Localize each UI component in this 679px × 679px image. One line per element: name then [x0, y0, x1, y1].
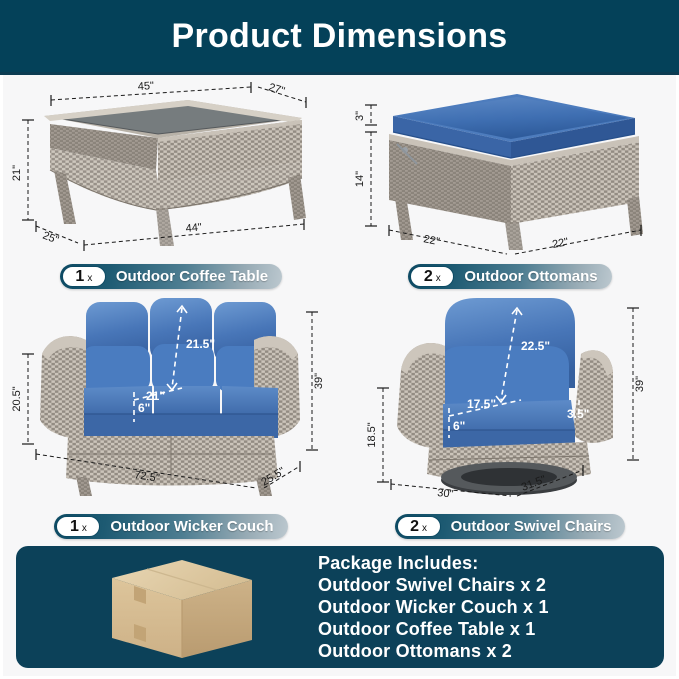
product-label-wicker-couch[interactable]: 1x Outdoor Wicker Couch: [54, 514, 287, 539]
header-banner: Product Dimensions: [0, 0, 679, 72]
dim-label-couch-20-5: 20.5": [11, 386, 23, 411]
product-name-wicker-couch: Outdoor Wicker Couch: [110, 518, 273, 535]
quantity-suffix: x: [422, 519, 427, 538]
dim-label-ottoman-22-width: 22": [551, 236, 569, 251]
label-pill-wrap-ottoman: 2x Outdoor Ottomans: [345, 264, 675, 289]
quantity-badge-wicker-couch: 1x: [56, 516, 100, 537]
quantity-value: 1: [70, 517, 79, 536]
swivel-chair-illustration: 22.5" 17.5" 6" 3.5" 18.5" 39" 30": [345, 288, 675, 506]
product-panel-swivel-chair: 22.5" 17.5" 6" 3.5" 18.5" 39" 30": [345, 288, 675, 543]
dim-label-coffee-table-25: 25": [41, 230, 60, 247]
package-includes-panel: Package Includes: Outdoor Swivel Chairs …: [16, 546, 664, 668]
product-label-swivel-chair[interactable]: 2x Outdoor Swivel Chairs: [395, 514, 626, 539]
cardboard-box-icon: [16, 546, 312, 668]
dim-label-couch-6: 6": [138, 401, 150, 415]
dim-label-ottoman-3: 3": [354, 111, 366, 121]
label-pill-wrap-swivel-chair: 2x Outdoor Swivel Chairs: [345, 514, 675, 539]
quantity-badge-ottoman: 2x: [410, 266, 454, 287]
dim-label-couch-21-5: 21.5": [186, 337, 215, 351]
wicker-couch-illustration: 21.5" 21" 6" 20.5" 39" 72.5" 25.: [6, 288, 336, 506]
package-includes-list: Package Includes: Outdoor Swivel Chairs …: [312, 552, 549, 662]
package-item: Outdoor Ottomans x 2: [318, 640, 549, 662]
dim-label-chair-39: 39": [634, 376, 646, 392]
quantity-value: 2: [410, 517, 419, 536]
dim-label-coffee-table-27: 27": [267, 81, 286, 97]
product-label-coffee-table[interactable]: 1x Outdoor Coffee Table: [60, 264, 282, 289]
package-item: Outdoor Swivel Chairs x 2: [318, 574, 549, 596]
page-title: Product Dimensions: [171, 17, 507, 56]
product-panel-ottoman: 3" 14" 22" 22" 2x Outdoor Ottomans: [345, 78, 675, 293]
product-panel-coffee-table: 45" 27" 21" 25" 44" 1x: [6, 78, 336, 293]
product-label-ottoman[interactable]: 2x Outdoor Ottomans: [408, 264, 611, 289]
coffee-table-illustration: 45" 27" 21" 25" 44": [6, 78, 336, 256]
dim-label-chair-18-5: 18.5": [366, 422, 378, 447]
quantity-suffix: x: [436, 269, 441, 288]
label-pill-wrap-coffee-table: 1x Outdoor Coffee Table: [6, 264, 336, 289]
product-name-ottoman: Outdoor Ottomans: [464, 268, 597, 285]
shipping-box-illustration: [16, 546, 312, 668]
dim-label-chair-22-5: 22.5": [521, 339, 550, 353]
package-item: Outdoor Coffee Table x 1: [318, 618, 549, 640]
dim-label-chair-30: 30": [437, 487, 454, 501]
label-pill-wrap-wicker-couch: 1x Outdoor Wicker Couch: [6, 514, 336, 539]
quantity-suffix: x: [82, 519, 87, 538]
dim-label-coffee-table-44: 44": [185, 221, 202, 235]
dim-label-coffee-table-45: 45": [137, 80, 154, 93]
package-includes-title: Package Includes:: [318, 552, 549, 574]
package-item: Outdoor Wicker Couch x 1: [318, 596, 549, 618]
product-name-swivel-chair: Outdoor Swivel Chairs: [451, 518, 612, 535]
quantity-badge-swivel-chair: 2x: [397, 516, 441, 537]
dim-label-chair-3-5: 3.5": [567, 407, 589, 421]
product-panel-wicker-couch: 21.5" 21" 6" 20.5" 39" 72.5" 25.: [6, 288, 336, 543]
quantity-badge-coffee-table: 1x: [62, 266, 106, 287]
dim-label-couch-39: 39": [313, 373, 325, 389]
product-dimensions-infographic: Product Dimensions: [0, 0, 679, 679]
dim-label-chair-17-5: 17.5": [467, 397, 496, 411]
dim-label-ottoman-22-depth: 22": [422, 233, 440, 248]
ottoman-illustration: 3" 14" 22" 22": [345, 78, 675, 256]
dim-label-coffee-table-21: 21": [11, 165, 23, 181]
dim-label-chair-6: 6": [453, 419, 465, 433]
product-name-coffee-table: Outdoor Coffee Table: [116, 268, 268, 285]
dim-label-ottoman-14: 14": [354, 171, 366, 187]
quantity-suffix: x: [87, 269, 92, 288]
quantity-value: 1: [75, 267, 84, 286]
quantity-value: 2: [424, 267, 433, 286]
